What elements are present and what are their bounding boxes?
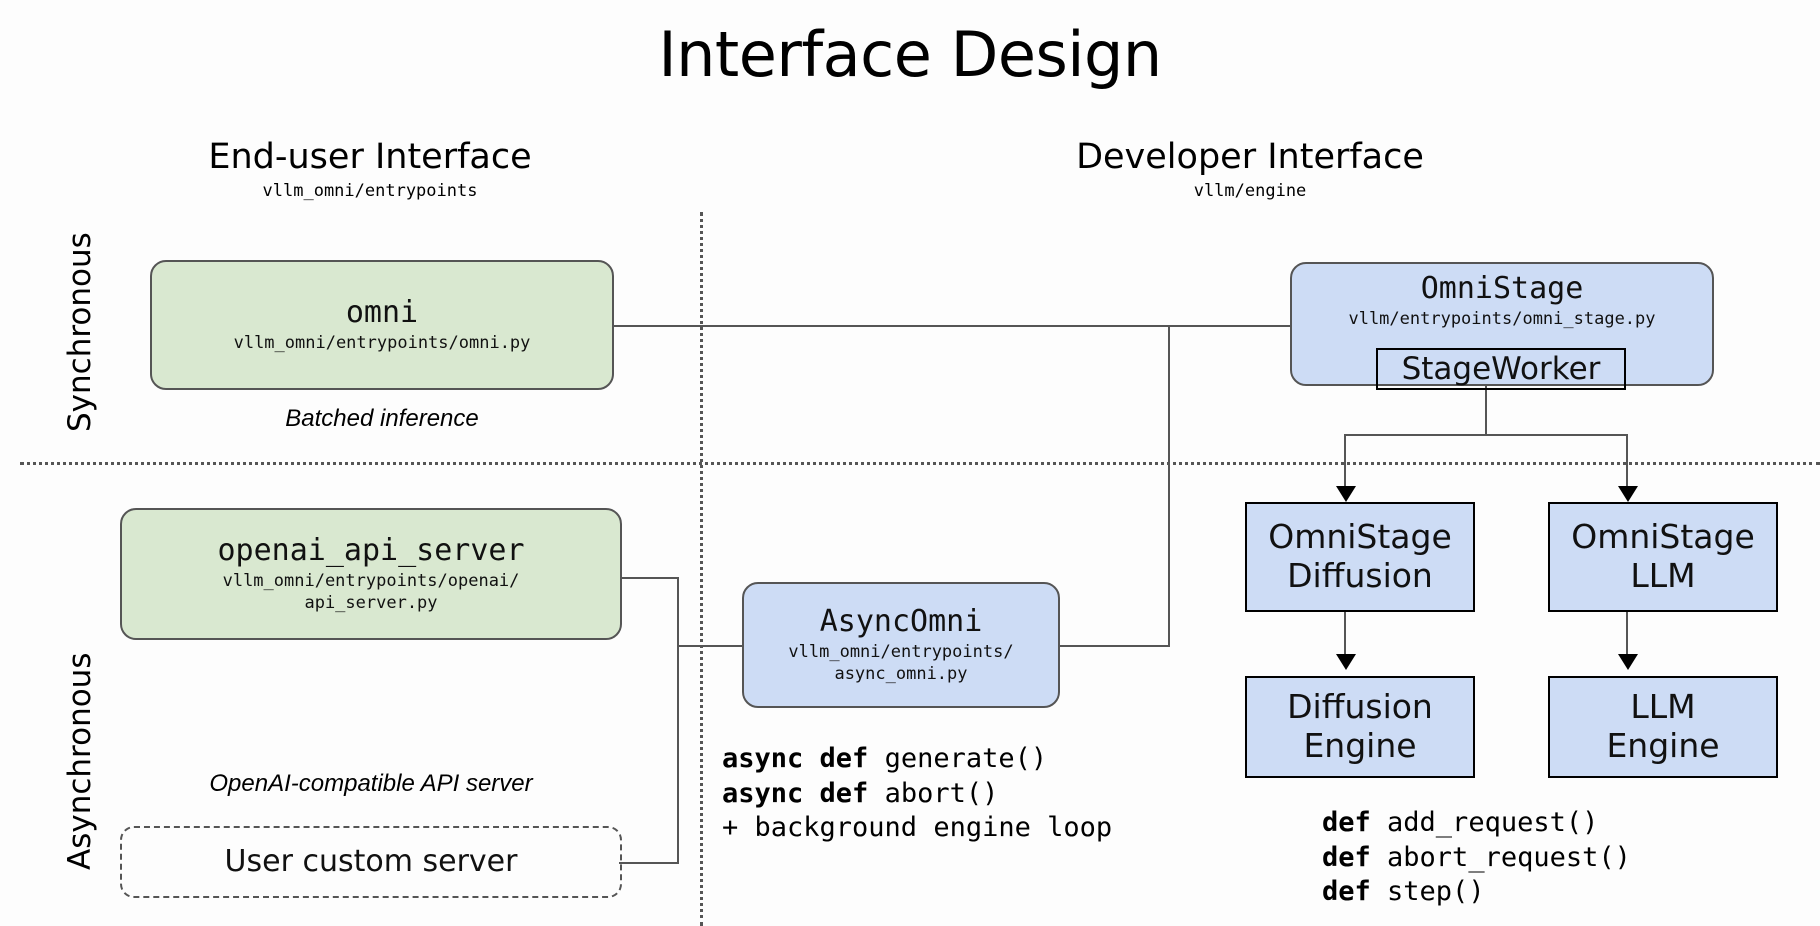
node-diffusion-engine[interactable]: Diffusion Engine [1245,676,1475,778]
connector-diffusion-stage-to-engine [1344,612,1346,656]
connector-llm-stage-to-engine [1626,612,1628,656]
side-label-synchronous: Synchronous [62,232,98,432]
code-line: def step() [1322,875,1631,910]
code-rest: abort_request() [1371,842,1631,873]
node-omni-stage-llm[interactable]: OmniStage LLM [1548,502,1778,612]
node-llm-engine-title: LLM Engine [1606,688,1719,766]
connector-to-llm-stage [1626,434,1628,486]
connector-bus-to-asyncomni [677,645,743,647]
node-openai-api-server[interactable]: openai_api_server vllm_omni/entrypoints/… [120,508,622,640]
code-rest: abort() [868,778,998,809]
connector-left-bus-vertical [677,577,679,864]
node-llm-engine[interactable]: LLM Engine [1548,676,1778,778]
divider-vertical [700,212,703,926]
code-line: async def generate() [722,742,1112,777]
code-rest: step() [1371,876,1485,907]
code-keyword: def [1322,876,1371,907]
node-user-custom-server[interactable]: User custom server [120,826,622,898]
node-omni-stage-diffusion-title: OmniStage Diffusion [1268,518,1452,596]
connector-trunk-vertical [1168,325,1170,647]
column-header-developer-subtitle: vllm/engine [1040,181,1460,201]
divider-horizontal [20,462,1820,465]
annotation-batched-inference: Batched inference [150,405,614,433]
code-rest: + background engine loop [722,812,1112,843]
code-line: def abort_request() [1322,841,1631,876]
connector-omni-to-stage [612,325,1290,327]
code-keyword: async def [722,778,868,809]
code-line: def add_request() [1322,806,1631,841]
node-omni-title: omni [346,296,418,330]
connector-customserver-to-bus [619,862,679,864]
node-omni-subtitle: vllm_omni/entrypoints/omni.py [234,332,531,354]
code-line: async def abort() [722,777,1112,812]
code-rest: generate() [868,743,1047,774]
connector-to-diffusion-stage [1344,434,1346,486]
column-header-end-user-subtitle: vllm_omni/entrypoints [160,181,580,201]
code-keyword: def [1322,807,1371,838]
connector-stageworker-split [1344,434,1628,436]
code-block-async-api: async def generate() async def abort() +… [722,742,1112,846]
arrowhead-diffusion-stage [1336,486,1356,502]
node-async-omni-subtitle: vllm_omni/entrypoints/ async_omni.py [788,641,1013,685]
node-omni[interactable]: omni vllm_omni/entrypoints/omni.py [150,260,614,390]
arrowhead-llm-stage [1618,486,1638,502]
node-async-omni-title: AsyncOmni [820,605,983,639]
code-block-engine-api: def add_request() def abort_request() de… [1322,806,1631,910]
node-async-omni[interactable]: AsyncOmni vllm_omni/entrypoints/ async_o… [742,582,1060,708]
node-user-custom-server-title: User custom server [225,844,518,879]
node-openai-api-server-subtitle: vllm_omni/entrypoints/openai/ api_server… [223,570,520,614]
node-omni-stage-title: OmniStage [1421,272,1584,306]
connector-asyncomni-right [1058,645,1170,647]
code-line: + background engine loop [722,811,1112,846]
connector-openai-to-bus [619,577,679,579]
node-diffusion-engine-title: Diffusion Engine [1287,688,1433,766]
node-omni-stage-llm-title: OmniStage LLM [1571,518,1755,596]
node-openai-api-server-title: openai_api_server [217,534,524,568]
node-stage-worker[interactable]: StageWorker [1376,348,1626,390]
node-omni-stage-diffusion[interactable]: OmniStage Diffusion [1245,502,1475,612]
arrowhead-llm-engine [1618,654,1638,670]
node-stage-worker-label: StageWorker [1402,351,1601,387]
code-keyword: async def [722,743,868,774]
annotation-openai-compatible: OpenAI-compatible API server [120,770,622,798]
column-header-developer-title: Developer Interface [1040,138,1460,177]
code-keyword: def [1322,842,1371,873]
column-header-end-user: End-user Interface vllm_omni/entrypoints [160,138,580,201]
code-rest: add_request() [1371,807,1599,838]
arrowhead-diffusion-engine [1336,654,1356,670]
side-label-asynchronous: Asynchronous [62,653,98,870]
node-omni-stage-subtitle: vllm/entrypoints/omni_stage.py [1348,308,1655,330]
page-title: Interface Design [0,18,1820,91]
diagram-canvas: Interface Design End-user Interface vllm… [0,0,1820,926]
column-header-end-user-title: End-user Interface [160,138,580,177]
column-header-developer: Developer Interface vllm/engine [1040,138,1460,201]
